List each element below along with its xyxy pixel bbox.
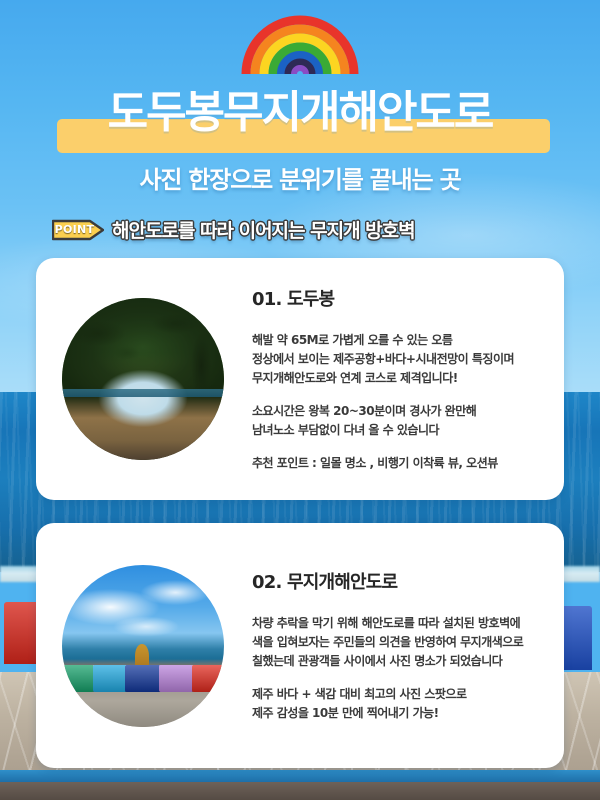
info-card-1-title: 01. 도두봉 [252,285,548,311]
photo-block-cyan [93,665,127,693]
background-asphalt [0,782,600,800]
doduborn-tree-arch-photo [62,298,224,460]
poster-root: 도두봉무지개해안도로 사진 한장으로 분위기를 끝내는 곳 POINT 해안도로… [0,0,600,800]
background-blue-strip [0,770,600,782]
info-card-1[interactable]: 01. 도두봉 해발 약 65M로 가볍게 오를 수 있는 오름 정상에서 보이… [36,258,564,500]
info-card-2-body: 02. 무지개해안도로 차량 추락을 막기 위해 해안도로를 따라 설치된 방호… [224,568,564,723]
point-row: POINT 해안도로를 따라 이어지는 무지개 방호벽 [52,216,415,243]
rainbow-icon [240,14,360,76]
photo-block-purple [159,665,193,693]
page-title: 도두봉무지개해안도로 [0,84,600,142]
photo-block-green [62,665,94,693]
info-card-2-paragraph-1: 차량 추락을 막기 위해 해안도로를 따라 설치된 방호벽에 색을 입혀보자는 … [252,614,548,671]
info-card-1-body: 01. 도두봉 해발 약 65M로 가볍게 오를 수 있는 오름 정상에서 보이… [224,285,564,473]
info-card-1-paragraph-3: 추천 포인트 : 일몰 명소 , 비행기 이착륙 뷰, 오션뷰 [252,454,548,473]
poster-title-block: 도두봉무지개해안도로 [0,84,600,158]
photo-block-navy [125,665,161,693]
point-badge-label: POINT [55,223,95,236]
point-badge: POINT [52,219,104,241]
info-card-2-paragraph-2: 제주 바다 + 색감 대비 최고의 사진 스팟으로 제주 감성을 10분 만에 … [252,685,548,723]
rainbow-coastal-road-photo [62,565,224,727]
photo-block-red [192,665,224,693]
point-headline: 해안도로를 따라 이어지는 무지개 방호벽 [112,216,415,243]
info-card-2[interactable]: 02. 무지개해안도로 차량 추락을 막기 위해 해안도로를 따라 설치된 방호… [36,523,564,768]
info-card-1-paragraph-1: 해발 약 65M로 가볍게 오를 수 있는 오름 정상에서 보이는 제주공항+바… [252,331,548,388]
info-card-2-title: 02. 무지개해안도로 [252,568,548,594]
info-card-1-paragraph-2: 소요시간은 왕복 20~30분이며 경사가 완만해 남녀노소 부담없이 다녀 올… [252,402,548,440]
poster-subtitle: 사진 한장으로 분위기를 끝내는 곳 [0,160,600,195]
